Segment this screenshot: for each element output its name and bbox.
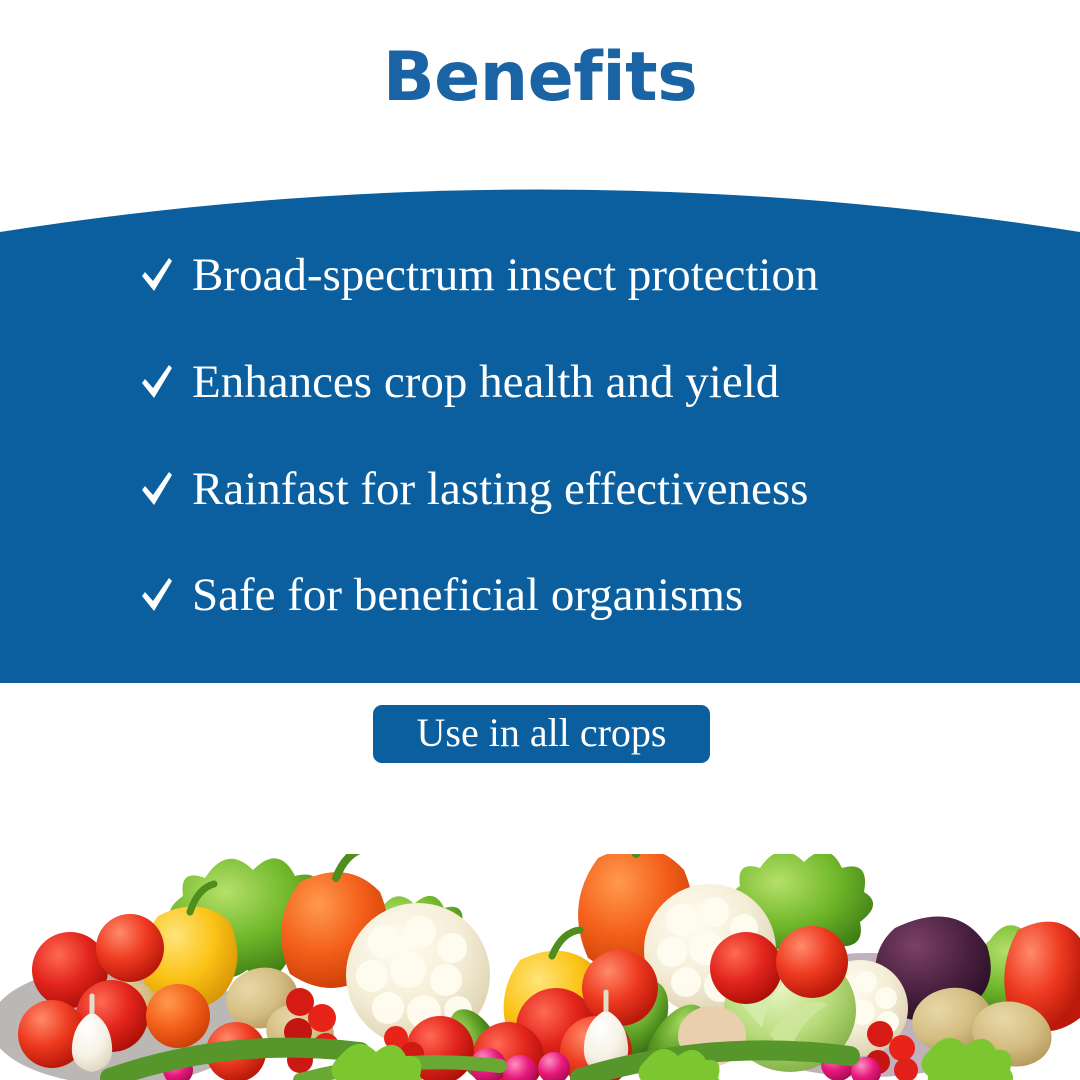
benefits-list: Broad-spectrum insect protection Enhance… — [0, 155, 1080, 685]
badge-label: Use in all crops — [417, 713, 667, 756]
list-item: Safe for beneficial organisms — [140, 569, 1020, 621]
benefit-label: Enhances crop health and yield — [192, 356, 779, 408]
check-icon — [140, 360, 174, 404]
benefit-label: Safe for beneficial organisms — [192, 569, 743, 621]
benefits-poster: Benefits Broad-spectrum insect protectio… — [0, 0, 1080, 1080]
check-icon — [140, 573, 174, 617]
benefit-label: Broad-spectrum insect protection — [192, 249, 818, 301]
use-in-all-crops-badge: Use in all crops — [373, 705, 710, 763]
check-icon — [140, 467, 174, 511]
vegetables-illustration — [0, 820, 1080, 1080]
benefit-label: Rainfast for lasting effectiveness — [192, 463, 808, 515]
list-item: Rainfast for lasting effectiveness — [140, 463, 1020, 515]
list-item: Enhances crop health and yield — [140, 356, 1020, 408]
vegetables-image — [0, 820, 1080, 1080]
check-icon — [140, 253, 174, 297]
list-item: Broad-spectrum insect protection — [140, 249, 1020, 301]
page-title: Benefits — [0, 44, 1080, 112]
